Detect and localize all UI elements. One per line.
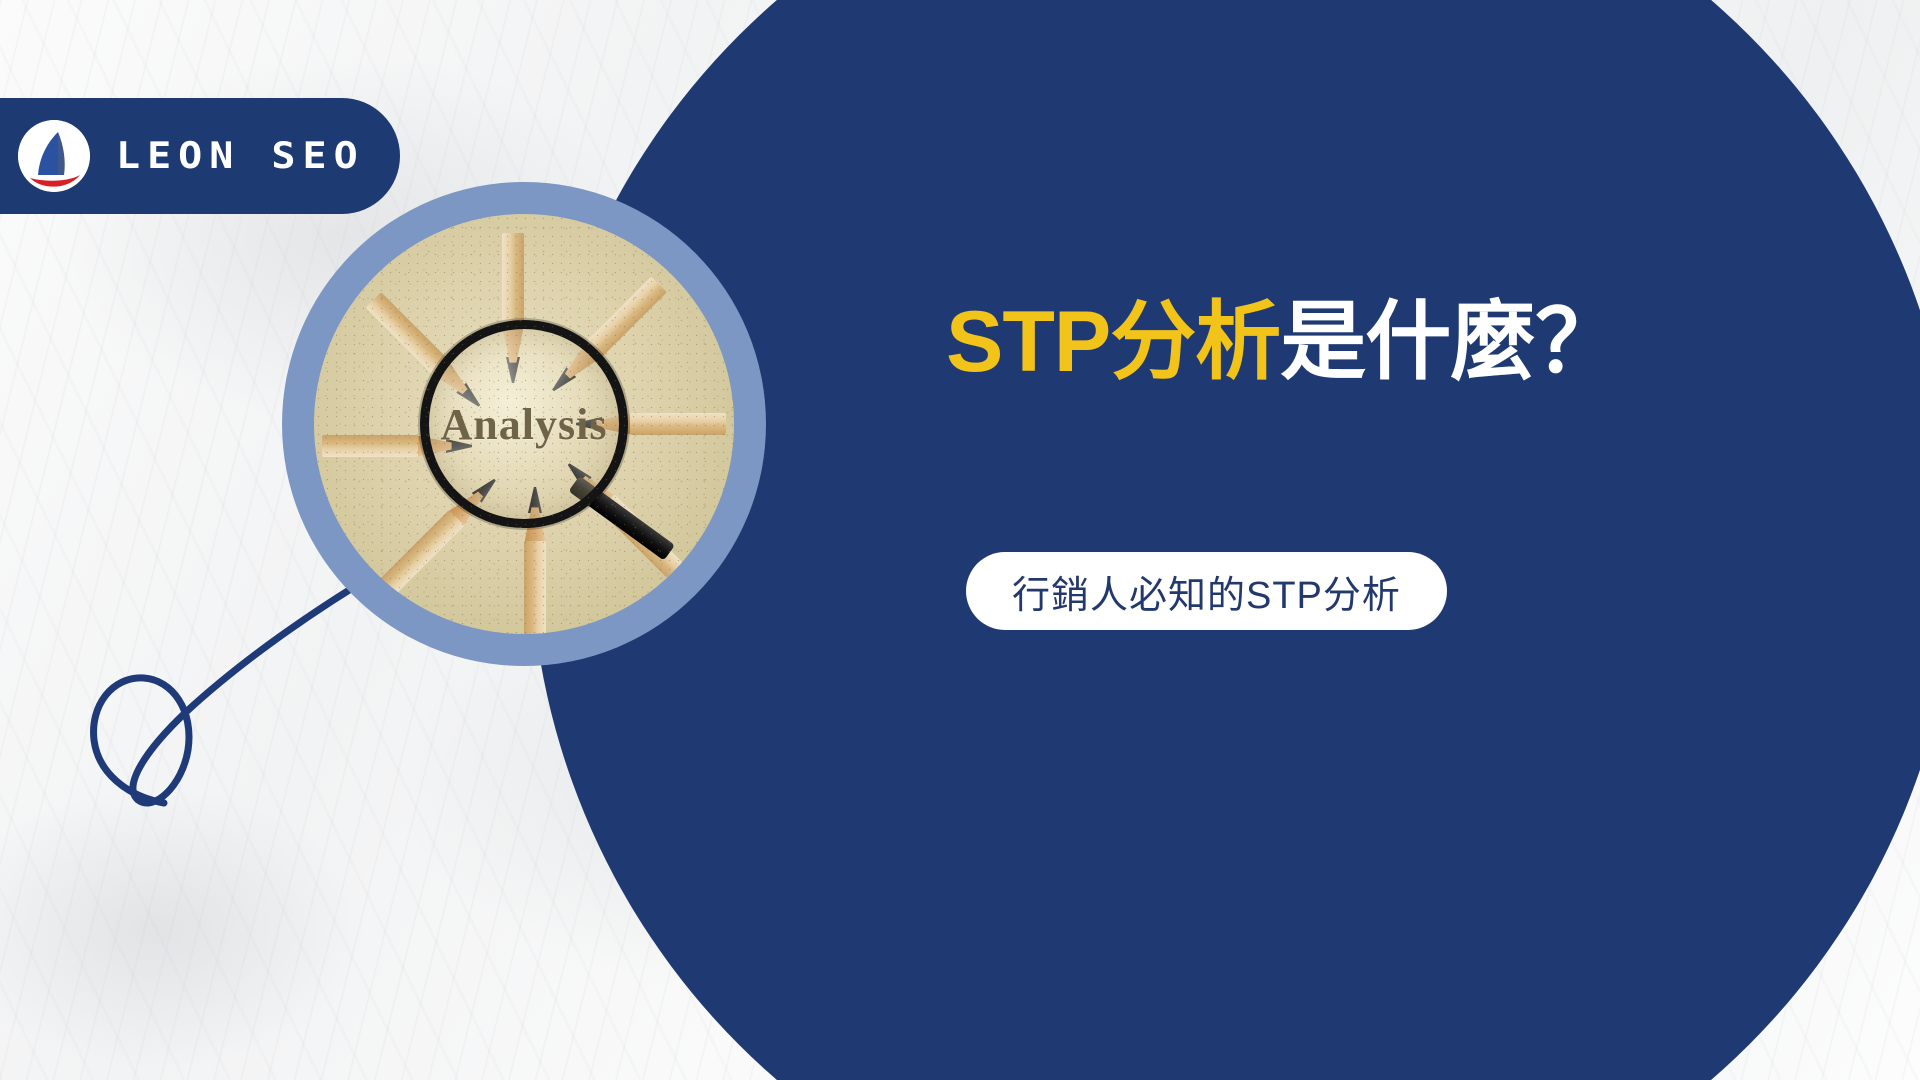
pencil xyxy=(417,343,524,450)
page-title-rest: 是什麼？ xyxy=(1280,294,1620,390)
brand-logo-badge[interactable]: LEON SEO xyxy=(0,98,400,214)
brand-name-label: LEON SEO xyxy=(116,135,365,177)
pencil xyxy=(524,419,631,526)
hero-image-ring: Analysis xyxy=(282,182,766,666)
pencil xyxy=(432,435,539,542)
navy-circle-shape xyxy=(530,0,1920,1080)
page-title: STP分析是什麼？ xyxy=(946,296,1620,389)
magnifier-lens: Analysis xyxy=(420,320,628,528)
page-title-highlight: STP分析 xyxy=(946,294,1280,390)
subtitle-pill: 行銷人必知的STP分析 xyxy=(966,552,1447,630)
hero-image: Analysis xyxy=(314,214,734,634)
pencil xyxy=(508,328,615,435)
magnifier-handle xyxy=(569,476,676,561)
pencil xyxy=(394,435,524,457)
pencil xyxy=(502,305,524,435)
subtitle-label: 行銷人必知的STP分析 xyxy=(1012,564,1401,619)
pencil xyxy=(524,413,654,435)
pencil xyxy=(524,435,546,565)
analysis-label: Analysis xyxy=(441,399,608,450)
sailboat-icon xyxy=(18,120,90,192)
